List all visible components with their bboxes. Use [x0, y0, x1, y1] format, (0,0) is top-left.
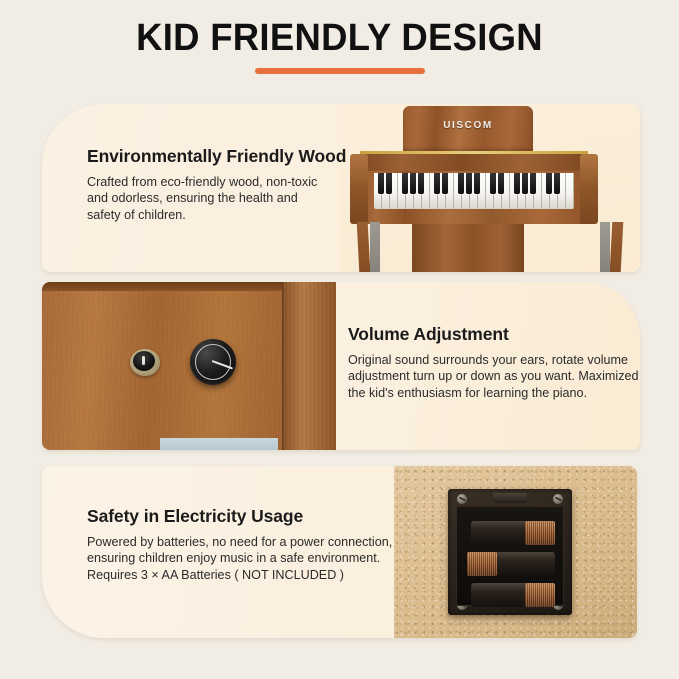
card-body-line: the kid's enthusiasm for learning the pi…	[348, 385, 638, 401]
piano-black-key	[514, 173, 520, 194]
piano-black-key	[474, 173, 480, 194]
card-body-line: adjustment turn up or down as you want. …	[348, 368, 638, 384]
piano-leg-right	[610, 222, 624, 272]
card-body-line: safety of children.	[87, 207, 377, 223]
card-body-line: ensuring children enjoy music in a safe …	[87, 550, 407, 566]
piano-black-key	[402, 173, 408, 194]
cabinet-bottom-strip	[160, 438, 278, 450]
screw-icon	[553, 494, 563, 504]
piano-black-key	[458, 173, 464, 194]
card-body-line: Original sound surrounds your ears, rota…	[348, 352, 638, 368]
card-heading: Volume Adjustment	[348, 324, 638, 345]
piano-white-key	[398, 173, 406, 209]
piano-white-key	[454, 173, 462, 209]
card-heading: Environmentally Friendly Wood	[87, 146, 377, 167]
page-title: KID FRIENDLY DESIGN	[14, 17, 666, 60]
cabinet-wood-post	[282, 282, 336, 450]
card-body: Crafted from eco-friendly wood, non-toxi…	[87, 174, 377, 223]
piano-white-key	[486, 173, 494, 209]
card-body-line: and odorless, ensuring the health and	[87, 190, 377, 206]
feature-card-safety-in-electricity-usage: Safety in Electricity Usage Powered by b…	[42, 466, 637, 638]
audio-jack-inner	[133, 351, 155, 371]
piano-white-key	[510, 173, 518, 209]
piano-lid	[354, 154, 594, 171]
piano-black-key	[386, 173, 392, 194]
screw-icon	[457, 494, 467, 504]
piano-black-key	[442, 173, 448, 194]
piano-white-key	[430, 173, 438, 209]
piano-black-key	[498, 173, 504, 194]
card-text-block: Environmentally Friendly Wood Crafted fr…	[87, 146, 377, 223]
piano-black-key	[530, 173, 536, 194]
aa-battery-cell	[467, 552, 555, 576]
piano-pedestal	[412, 224, 524, 272]
piano-black-key	[522, 173, 528, 194]
card-body: Powered by batteries, no need for a powe…	[87, 534, 407, 583]
battery-terminal	[525, 583, 555, 607]
battery-compartment-interior	[456, 506, 564, 606]
piano-keyboard	[374, 173, 574, 209]
battery-terminal	[467, 552, 497, 576]
piano-black-key	[546, 173, 552, 194]
feature-card-environmentally-friendly-wood: UISCOM	[42, 104, 640, 272]
card-text-block: Safety in Electricity Usage Powered by b…	[87, 506, 407, 583]
battery-cover-latch	[493, 493, 527, 503]
piano-black-key	[434, 173, 440, 194]
piano-white-key	[566, 173, 574, 209]
piano-body	[354, 154, 594, 224]
piano-leg-left	[357, 222, 371, 272]
battery-compartment	[448, 489, 572, 615]
audio-jack-pin	[142, 356, 145, 365]
feature-card-volume-adjustment: Volume Adjustment Original sound surroun…	[42, 282, 640, 450]
brand-logo-text: UISCOM	[403, 120, 533, 131]
aa-battery-cell	[471, 583, 555, 607]
battery-terminal	[525, 521, 555, 545]
volume-knob[interactable]	[190, 339, 236, 385]
piano-black-key	[378, 173, 384, 194]
volume-knob-photo	[42, 282, 336, 450]
card-body-line: Powered by batteries, no need for a powe…	[87, 534, 407, 550]
piano-black-key	[410, 173, 416, 194]
piano-leg-support-left	[370, 222, 380, 272]
card-body-line: Crafted from eco-friendly wood, non-toxi…	[87, 174, 377, 190]
piano-leg-support-right	[600, 222, 610, 272]
card-text-block: Volume Adjustment Original sound surroun…	[348, 324, 638, 401]
card-heading: Safety in Electricity Usage	[87, 506, 407, 527]
piano-black-key	[466, 173, 472, 194]
card-body: Original sound surrounds your ears, rota…	[348, 352, 638, 401]
toy-piano-photo: UISCOM	[340, 104, 640, 272]
battery-compartment-photo	[394, 466, 637, 638]
audio-jack-socket	[130, 349, 160, 376]
piano-black-key	[490, 173, 496, 194]
piano-black-key	[418, 173, 424, 194]
aa-battery-cell	[471, 521, 555, 545]
page-header: KID FRIENDLY DESIGN	[0, 0, 679, 92]
card-body-line: Requires 3 × AA Batteries ( NOT INCLUDED…	[87, 567, 407, 583]
piano-side-panel-right	[580, 154, 598, 224]
piano-white-key	[542, 173, 550, 209]
title-accent-underline	[255, 68, 425, 74]
piano-music-rest: UISCOM	[403, 106, 533, 151]
piano-black-key	[554, 173, 560, 194]
